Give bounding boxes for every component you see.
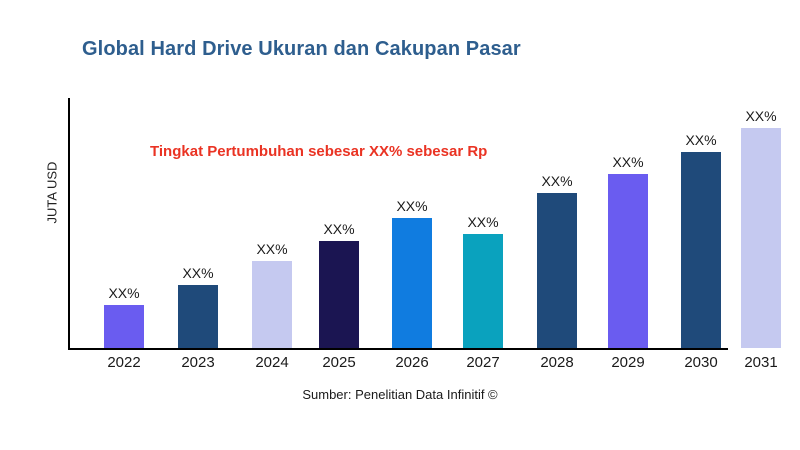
x-tick-label-2031: 2031 xyxy=(731,354,791,371)
x-tick-label-2026: 2026 xyxy=(382,354,442,371)
bar-value-label: XX% xyxy=(467,214,498,230)
x-tick-label-2023: 2023 xyxy=(168,354,228,371)
source-note: Sumber: Penelitian Data Infinitif © xyxy=(0,387,800,402)
bar-2025[interactable] xyxy=(319,241,359,348)
bar-group: XX% xyxy=(608,144,648,348)
bar-value-label: XX% xyxy=(182,265,213,281)
x-tick-label-2025: 2025 xyxy=(309,354,369,371)
bar-2026[interactable] xyxy=(392,218,432,348)
bar-group: XX% xyxy=(319,211,359,348)
bar-value-label: XX% xyxy=(396,198,427,214)
bar-group: XX% xyxy=(178,255,218,348)
bar-2030[interactable] xyxy=(681,152,721,348)
bar-value-label: XX% xyxy=(323,221,354,237)
bar-group: XX% xyxy=(463,204,503,348)
x-tick-label-2027: 2027 xyxy=(453,354,513,371)
bar-value-label: XX% xyxy=(685,132,716,148)
bar-2022[interactable] xyxy=(104,305,144,348)
bar-value-label: XX% xyxy=(612,154,643,170)
bar-2027[interactable] xyxy=(463,234,503,348)
bar-group: XX% xyxy=(252,231,292,349)
x-tick-label-2024: 2024 xyxy=(242,354,302,371)
bar-group: XX% xyxy=(537,163,577,348)
bar-value-label: XX% xyxy=(745,108,776,124)
bar-value-label: XX% xyxy=(108,285,139,301)
bar-group: XX% xyxy=(681,122,721,348)
bar-group: XX% xyxy=(392,188,432,348)
x-tick-label-2030: 2030 xyxy=(671,354,731,371)
bar-chart: Global Hard Drive Ukuran dan Cakupan Pas… xyxy=(0,0,800,450)
plot-area: XX%2022XX%2023XX%2024XX%2025XX%2026XX%20… xyxy=(0,0,800,450)
bar-value-label: XX% xyxy=(541,173,572,189)
x-tick-label-2029: 2029 xyxy=(598,354,658,371)
bar-2031[interactable] xyxy=(741,128,781,348)
bar-2024[interactable] xyxy=(252,261,292,349)
bar-value-label: XX% xyxy=(256,241,287,257)
x-tick-label-2022: 2022 xyxy=(94,354,154,371)
bar-2023[interactable] xyxy=(178,285,218,348)
bar-2028[interactable] xyxy=(537,193,577,348)
x-tick-label-2028: 2028 xyxy=(527,354,587,371)
bar-2029[interactable] xyxy=(608,174,648,348)
bar-group: XX% xyxy=(741,98,781,348)
bar-group: XX% xyxy=(104,275,144,348)
